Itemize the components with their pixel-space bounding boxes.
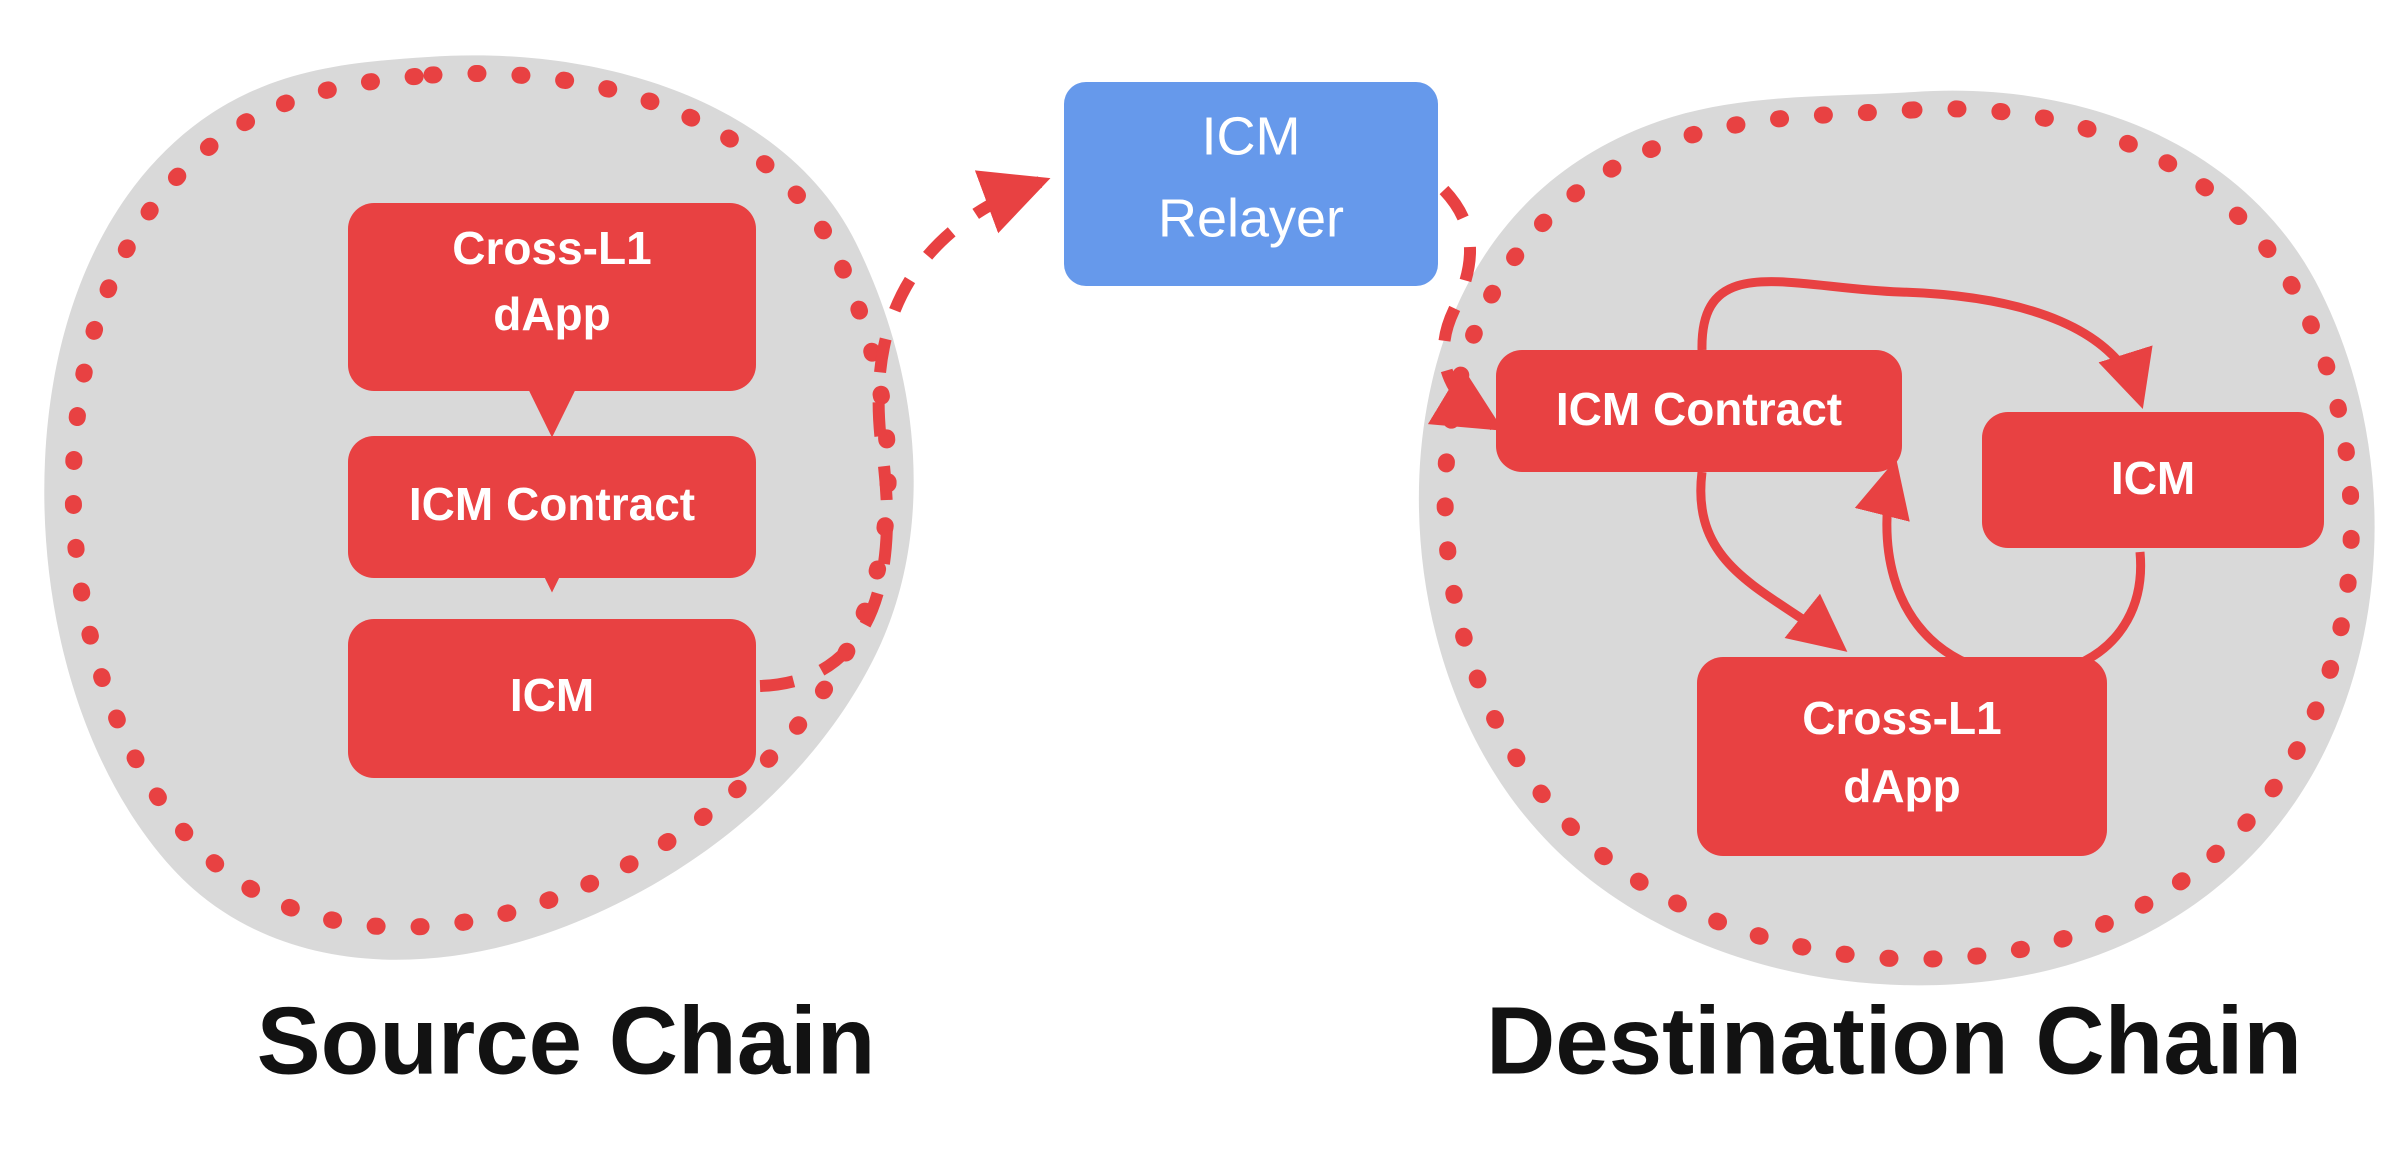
node-dst-cross-l1-dapp-box[interactable] [1697, 657, 2107, 856]
node-icm-relayer-label-line2: Relayer [1158, 188, 1344, 248]
diagram-canvas: Cross-L1 dApp ICM Contract ICM ICM Relay… [0, 0, 2406, 1160]
node-dst-cross-l1-dapp-label-line2: dApp [1843, 760, 1961, 812]
source-chain-caption: Source Chain [257, 987, 876, 1094]
node-dst-icm-contract[interactable]: ICM Contract [1496, 350, 1902, 472]
node-dst-icm-contract-label: ICM Contract [1556, 383, 1842, 435]
node-src-cross-l1-dapp[interactable]: Cross-L1 dApp [348, 203, 756, 391]
node-src-icm-contract-label: ICM Contract [409, 478, 695, 530]
node-dst-icm-label: ICM [2111, 452, 2195, 504]
node-dst-cross-l1-dapp-label-line1: Cross-L1 [1802, 692, 2001, 744]
node-dst-cross-l1-dapp[interactable]: Cross-L1 dApp [1697, 657, 2107, 856]
node-src-icm[interactable]: ICM [348, 619, 756, 778]
icm-flow-diagram: Cross-L1 dApp ICM Contract ICM ICM Relay… [0, 0, 2406, 1160]
node-src-cross-l1-dapp-label-line1: Cross-L1 [452, 222, 651, 274]
node-dst-icm[interactable]: ICM [1982, 412, 2324, 548]
node-src-icm-contract[interactable]: ICM Contract [348, 436, 756, 578]
node-icm-relayer[interactable]: ICM Relayer [1064, 82, 1438, 286]
node-src-icm-label: ICM [510, 669, 594, 721]
destination-chain-caption: Destination Chain [1486, 987, 2302, 1094]
node-icm-relayer-label-line1: ICM [1202, 106, 1301, 166]
node-src-cross-l1-dapp-label-line2: dApp [493, 288, 611, 340]
